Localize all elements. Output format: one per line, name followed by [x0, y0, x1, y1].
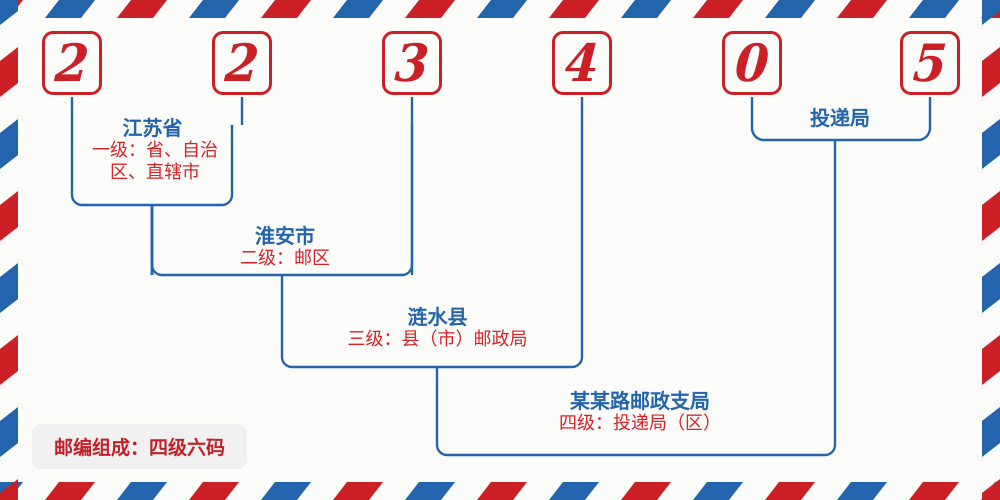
- callout-title: 某某路邮政支局: [460, 389, 820, 413]
- postcode-diagram: 2 2 3 4 0 5 江苏省 一级：省、自治区、直辖市 淮安市 二级：邮区 涟…: [0, 0, 1000, 500]
- digit-glyph: 0: [733, 37, 770, 89]
- callout-subtitle: 二级：邮区: [175, 248, 395, 270]
- callout-delivery-office: 投递局: [765, 106, 915, 130]
- callout-title: 江苏省: [75, 116, 230, 140]
- legend-badge: 邮编组成：四级六码: [32, 424, 247, 469]
- postcode-digit-1: 2: [42, 31, 102, 95]
- digit-glyph: 5: [911, 37, 948, 89]
- digit-glyph: 4: [563, 37, 600, 89]
- postcode-digit-2: 2: [212, 31, 272, 95]
- callout-level-1: 江苏省 一级：省、自治区、直辖市: [75, 116, 230, 184]
- callout-title: 涟水县: [300, 305, 575, 329]
- digit-glyph: 2: [53, 37, 90, 89]
- callout-level-4: 某某路邮政支局 四级：投递局（区）: [460, 389, 820, 435]
- callout-title: 投递局: [765, 106, 915, 130]
- callout-level-2: 淮安市 二级：邮区: [175, 224, 395, 270]
- callout-title: 淮安市: [175, 224, 395, 248]
- digit-glyph: 2: [223, 37, 260, 89]
- postcode-digit-3: 3: [382, 31, 442, 95]
- callout-level-3: 涟水县 三级：县（市）邮政局: [300, 305, 575, 351]
- postcode-digit-4: 4: [552, 31, 612, 95]
- callout-subtitle: 三级：县（市）邮政局: [300, 329, 575, 351]
- digit-glyph: 3: [393, 37, 430, 89]
- callout-subtitle: 四级：投递局（区）: [460, 413, 820, 435]
- callout-subtitle: 一级：省、自治区、直辖市: [75, 140, 235, 184]
- postcode-digit-6: 5: [900, 31, 960, 95]
- postcode-digit-5: 0: [722, 31, 782, 95]
